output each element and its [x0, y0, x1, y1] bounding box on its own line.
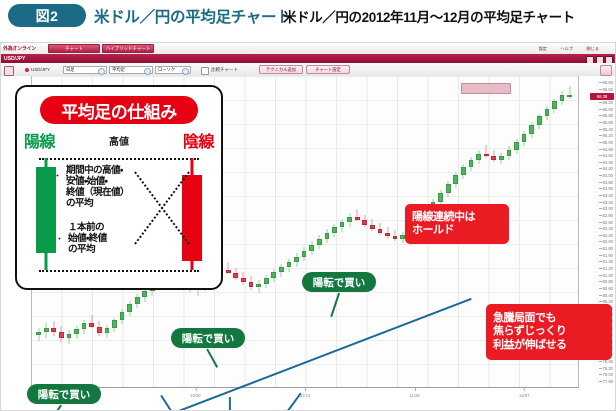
symbol-dot-icon	[25, 68, 29, 72]
candle-body	[567, 95, 572, 97]
candle-body	[105, 328, 110, 333]
candle-up	[294, 76, 299, 388]
chart-type-icon[interactable]	[4, 66, 14, 76]
candle-body	[378, 229, 383, 233]
candle-body	[461, 167, 466, 175]
candle-up	[309, 76, 314, 388]
candle-down	[378, 76, 383, 388]
candle-body	[127, 304, 132, 312]
callout-hold-line-2: ホールド	[412, 224, 502, 237]
label-high-price: 高値	[109, 133, 129, 148]
callout-buy-signal-2: 陽転で買い	[171, 328, 245, 348]
candle-body	[453, 175, 458, 184]
candle-body	[507, 150, 512, 157]
label-bullish-candle: 陽線	[24, 128, 55, 152]
candle-body	[484, 154, 489, 157]
symbol-selector[interactable]: USD/JPY	[25, 66, 50, 74]
chart-toolbar: USD/JPY 日足 平均足 ローソク 比較チャート テクニカル追加 チャート設…	[1, 63, 615, 77]
time-axis: 10/1910/3011/1311/2612/07	[31, 388, 579, 410]
heikin-ashi-explainer-panel: 平均足の仕組み 陽線 陰線 高値 ・・・ ・・・ 期間中の高値・ 安値・始値・ …	[15, 85, 223, 290]
candle-body	[36, 332, 41, 335]
symbol-selector-label: USD/JPY	[31, 67, 50, 72]
callout-surge-line-2: 焦らずじっくり	[493, 325, 605, 338]
candle-body	[182, 175, 202, 261]
menu-close[interactable]: 閉じる	[586, 45, 599, 52]
candle-up	[279, 76, 284, 388]
candle-body	[287, 262, 292, 267]
chevron-down-icon[interactable]	[144, 68, 151, 75]
candle-body	[362, 220, 367, 225]
chart-settings-button[interactable]: チャート設定	[306, 65, 350, 74]
chart-panel-close-button[interactable]	[600, 65, 612, 76]
add-indicator-button[interactable]: テクニカル追加	[259, 65, 303, 74]
candle-body	[438, 193, 443, 202]
high-reference-dashed-line	[39, 158, 199, 160]
candle-body	[355, 217, 360, 220]
symbol-label: USD/JPY	[4, 54, 25, 63]
candle-body	[233, 273, 238, 278]
candle-body	[385, 233, 390, 236]
time-tick: 11/26	[410, 392, 420, 399]
time-tick: 10/30	[190, 392, 200, 399]
candle-body	[522, 134, 527, 143]
candle-body	[256, 284, 261, 287]
candle-body	[491, 156, 496, 159]
candle-body	[446, 184, 451, 193]
menu-help[interactable]: ヘルプ	[560, 45, 573, 52]
candle-body	[142, 291, 147, 297]
timeframe-value: 日足	[66, 67, 75, 73]
candle-body	[514, 142, 519, 149]
explainer-text-lower: １本前の 始値・終値 の平均	[68, 223, 107, 256]
explainer-text-upper: 期間中の高値・ 安値・始値・ 終値（現在値） の平均	[66, 166, 129, 210]
candle-body	[317, 239, 322, 245]
callout-hold-line-1: 陽線連続中は	[412, 211, 502, 224]
candle-body	[74, 329, 79, 334]
candle-up	[317, 76, 322, 388]
candle-body	[499, 156, 504, 159]
candle-up	[347, 76, 352, 388]
candle-body	[89, 323, 94, 327]
chevron-down-icon[interactable]	[98, 68, 105, 75]
candle-up	[325, 76, 330, 388]
callout-surge-patience: 急騰局面でも 焦らずじっくり 利益が伸ばせる	[486, 304, 612, 360]
timeframe-dropdown[interactable]: 日足	[63, 66, 107, 74]
candle-body	[82, 323, 87, 329]
candle-down	[249, 76, 254, 388]
candle-body	[51, 328, 56, 332]
label-bearish-candle: 陰線	[183, 128, 214, 152]
candle-body	[249, 282, 254, 287]
compare-chart-checkbox[interactable]	[201, 67, 209, 75]
candle-body	[469, 160, 474, 167]
menu-settings[interactable]: 設定	[539, 45, 547, 52]
candle-body	[552, 101, 557, 108]
low-reference-dashed-line	[39, 270, 199, 272]
candle-body	[529, 125, 534, 134]
menu-tab-chart[interactable]: チャート	[48, 44, 100, 53]
candle-body	[545, 109, 550, 117]
candle-body	[476, 154, 481, 160]
candle-body	[340, 222, 345, 227]
candle-body	[332, 227, 337, 232]
candle-body	[59, 332, 64, 338]
candle-body	[44, 328, 49, 331]
candle-down	[370, 76, 375, 388]
compare-chart-label: 比較チャート	[211, 66, 238, 74]
candle-up	[264, 76, 269, 388]
candle-up	[256, 76, 261, 388]
candle-body	[226, 270, 231, 273]
candle-body	[271, 272, 276, 278]
candle-up	[287, 76, 292, 388]
candle-body	[241, 278, 246, 283]
style-value: ローソク	[158, 67, 175, 73]
candle-body	[393, 236, 398, 239]
candle-body	[347, 217, 352, 222]
callout-surge-line-3: 利益が伸ばせる	[493, 339, 605, 352]
callout-hold-while-bullish: 陽線連続中は ホールド	[405, 204, 509, 244]
callout-buy-signal-1: 陽転で買い	[27, 384, 101, 404]
figure-subtitle: 米ドル／円の2012年11月～12月の平均足チャート	[283, 5, 575, 27]
candle-up	[340, 76, 345, 388]
trading-application-window: 外為オンライン チャート ハイブリッドチャート 設定 ヘルプ 閉じる USD/J…	[0, 42, 616, 411]
candle-down	[393, 76, 398, 388]
candle-wick	[569, 86, 570, 99]
current-price-marker	[461, 83, 511, 94]
callout-surge-line-1: 急騰局面でも	[493, 312, 605, 325]
explainer-title: 平均足の仕組み	[40, 96, 198, 124]
candle-body	[302, 251, 307, 257]
candle-body	[537, 116, 542, 125]
candle-down	[385, 76, 390, 388]
candle-body	[135, 297, 140, 304]
time-tick: 12/07	[519, 392, 529, 399]
candle-body	[370, 225, 375, 229]
candle-body	[67, 334, 72, 338]
charttype-dropdown[interactable]: 平均足	[109, 66, 153, 74]
candle-body	[279, 267, 284, 272]
candle-body	[120, 312, 125, 320]
brand-logo: 外為オンライン	[3, 44, 36, 52]
last-price-tag: 86.38	[590, 93, 614, 100]
candle-up	[332, 76, 337, 388]
price-tick: 77.80	[603, 378, 613, 385]
callout-buy-signal-3: 陽転で買い	[302, 272, 376, 292]
candle-body	[264, 278, 269, 283]
figure-number-badge: 図2	[8, 4, 86, 27]
chevron-down-icon[interactable]	[182, 68, 189, 75]
candle-body	[325, 233, 330, 239]
menu-tab-hybrid-chart[interactable]: ハイブリッドチャート	[102, 44, 154, 53]
charttype-value: 平均足	[112, 67, 125, 73]
style-dropdown[interactable]: ローソク	[155, 66, 191, 74]
leader-profit-2	[229, 397, 231, 410]
candle-up	[302, 76, 307, 388]
candle-body	[112, 320, 117, 328]
candle-body	[97, 327, 102, 333]
candle-up	[271, 76, 276, 388]
figure-title: 米ドル／円の平均足チャート	[94, 4, 291, 27]
candle-body	[294, 257, 299, 262]
figure-header: 図2 米ドル／円の平均足チャート 米ドル／円の2012年11月～12月の平均足チ…	[0, 0, 616, 40]
candle-body	[560, 95, 565, 102]
candle-body	[309, 245, 314, 251]
